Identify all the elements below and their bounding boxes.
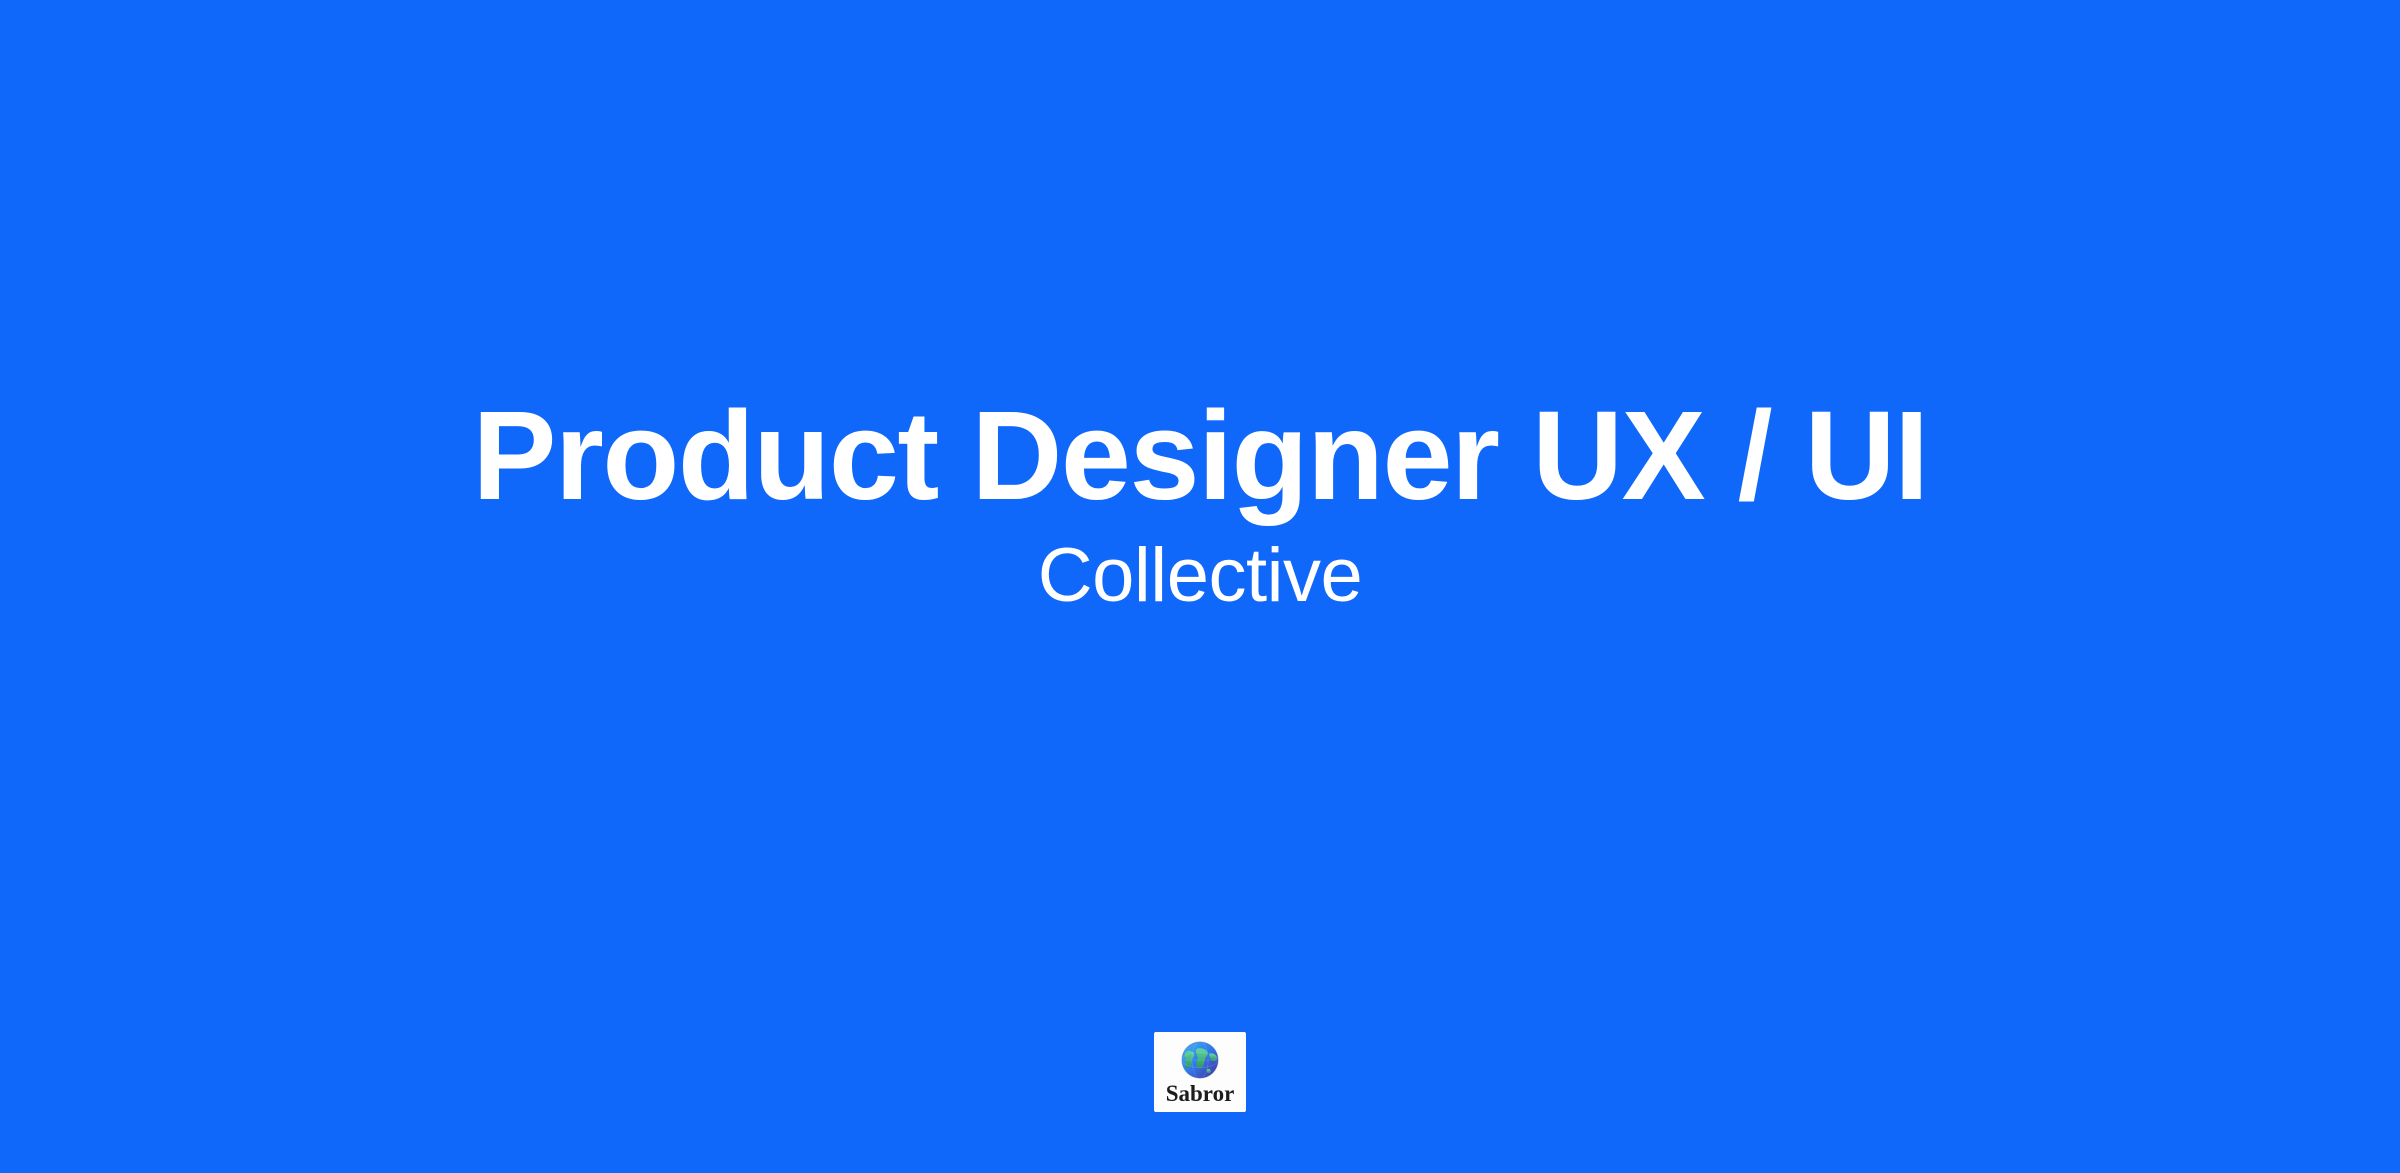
brand-name: Sabror (1166, 1082, 1235, 1105)
hero-section: Product Designer UX / UI Collective (0, 390, 2400, 618)
page-title: Product Designer UX / UI (472, 390, 1927, 521)
globe-icon (1180, 1040, 1220, 1080)
page-subtitle: Collective (1038, 533, 1362, 618)
slide-canvas: Product Designer UX / UI Collective (0, 0, 2400, 1173)
brand-badge[interactable]: Sabror (1154, 1032, 1246, 1112)
